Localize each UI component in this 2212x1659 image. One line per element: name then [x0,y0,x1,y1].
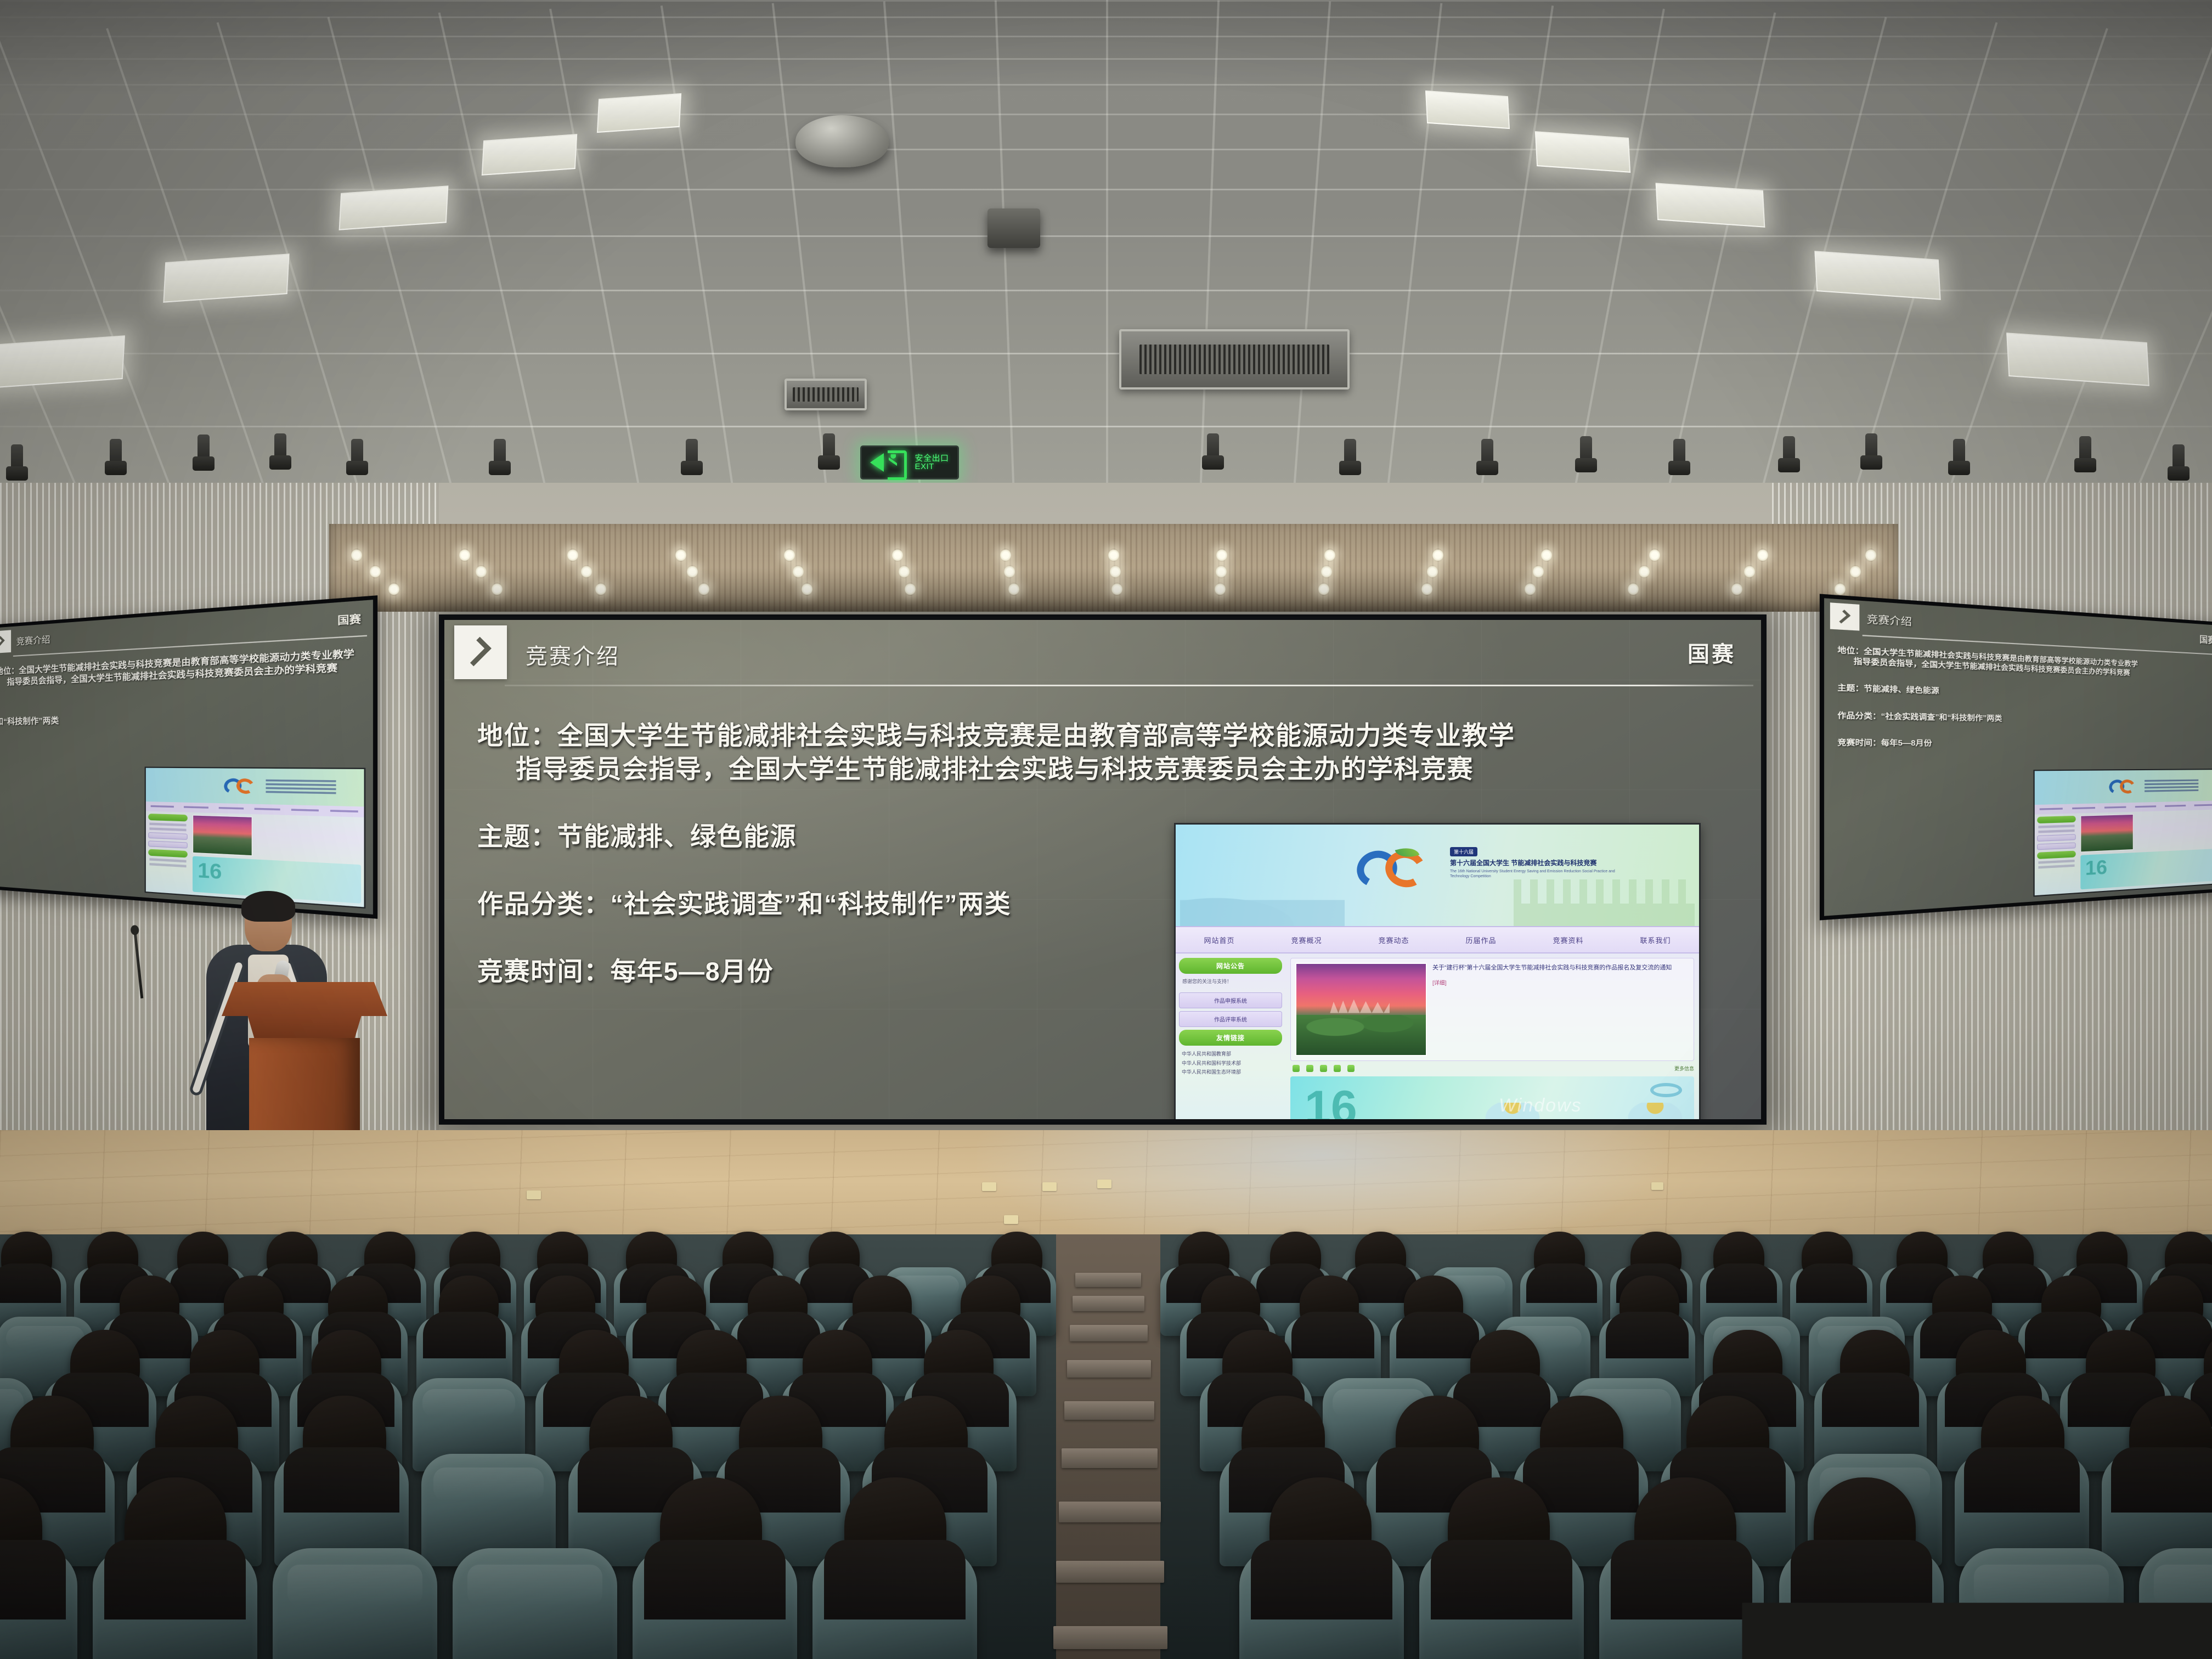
stage-downlight-icon [1008,583,1019,596]
floor-marker-2 [1042,1182,1057,1191]
banner-edition-number: 16 [1305,1084,1357,1119]
news-photo [1295,963,1427,1056]
running-person-icon [888,449,911,476]
stage-spot-light-icon [2079,436,2091,468]
stage-spot-light-icon [686,439,698,471]
chevron-right-icon-right-monitor [1830,602,1860,630]
stage-downlight-icon [1850,565,1861,578]
ceiling-light-panel [1535,131,1630,173]
left-monitor-badge: 国赛 [337,610,361,628]
infinity-mark-icon [1650,1083,1682,1097]
stage-downlight-icon [1216,549,1227,562]
windows-watermark: Windows [1499,1095,1582,1116]
audience-member-shoulders [104,1540,246,1620]
audience-member-shoulders [1791,1540,1932,1620]
audience-member-shoulders [1822,1373,1918,1427]
speaker-hair [241,891,295,922]
floor-marker-1 [982,1182,996,1191]
stage-downlight-icon [1216,565,1227,578]
stage-spot-light-icon [198,435,210,466]
site-main-area: 网站公告 感谢您的关注与支持！ 作品申报系统 作品评审系统 友情链接 中华人民共… [1176,953,1699,1119]
chevron-right-icon-left-monitor [0,630,11,653]
sidebar-announce-note: 感谢您的关注与支持！ [1179,978,1282,990]
site-title-block: 第十六届 第十六届全国大学生 节能减排社会实践与科技竞赛 The 16th Na… [1450,847,1631,879]
ceiling: 安全出口 EXIT [0,0,2212,527]
stage-downlight-icon [784,549,795,562]
news-card[interactable]: 关于“建行杯”第十六届全国大学生节能减排社会实践与科技竞赛的作品报名及复交流的通… [1290,958,1694,1061]
competition-logo-icon-right [2109,777,2140,797]
stage-downlight-icon [1835,583,1846,596]
skyline-left-icon [1180,879,1345,926]
stage-spot-light-icon [494,439,506,471]
floor-marker-6 [527,1190,541,1199]
news-pagination-dots[interactable]: 更多信息 [1290,1065,1694,1072]
ceiling-light-panel [1656,183,1765,227]
audience-member-shoulders [1964,1447,2080,1513]
ceiling-light-panel [482,134,577,176]
audience-member-shoulders [1431,1540,1572,1620]
stage-spot-light-icon [274,433,286,465]
audience-member-shoulders [0,1263,61,1304]
audience-member-shoulders [1611,1540,1752,1620]
audience-member-shoulders [284,1447,399,1513]
exit-sign-label-cn: 安全出口 [915,454,949,462]
auditorium-seat [273,1548,437,1659]
stage-spot-light-icon [1783,436,1795,468]
hvac-vent-icon [1119,329,1350,390]
floor-marker-5 [1651,1182,1663,1190]
ceiling-light-panel [597,93,681,133]
skyline-right-icon [1514,879,1695,926]
right-monitor-kicker: 竞赛介绍 [1867,610,1912,628]
sidebar-links-header: 友情链接 [1179,1030,1282,1046]
audience-member-shoulders [1251,1540,1392,1620]
stage-downlight-icon [1533,565,1544,578]
slide-line-status-2: 指导委员会指导，全国大学生节能减排社会实践与科技竞赛委员会主办的学科竞赛 [477,752,1739,786]
stage-downlight-icon [1110,565,1121,578]
auditorium-seat [453,1548,617,1659]
stage-downlight-icon [1525,583,1536,596]
stage-downlight-icon [1639,565,1650,578]
auditorium-seat [2139,1548,2212,1659]
stage-downlight-icon [802,583,812,596]
stage-downlight-icon [899,565,910,578]
audience-member-shoulders [1291,1312,1374,1358]
audience-member-shoulders [0,1540,66,1620]
stage-downlight-icon [595,583,606,596]
site-sidebar: 网站公告 感谢您的关注与支持！ 作品申报系统 作品评审系统 友情链接 中华人民共… [1176,953,1285,1119]
site-nav-item-home[interactable]: 网站首页 [1176,935,1263,945]
ceiling-light-panel [1425,91,1510,129]
stage-downlight-icon [1865,549,1876,562]
audience-member-shoulders [644,1540,786,1620]
right-monitor-badge: 国赛 [2199,632,2212,646]
stage-downlight-icon [1541,549,1552,562]
competition-logo-icon-left [224,776,259,797]
podium-top [222,982,387,1016]
news-detail-link[interactable]: [详细] [1432,978,1689,986]
stage-spot-light-icon [1481,439,1493,471]
left-monitor-website-thumb: 16 [145,766,366,909]
presentation-slide: 竞赛介绍 国赛 地位：全国大学生节能减排社会实践与科技竞赛是由教育部高等学校能源… [444,620,1761,1119]
exit-sign-label-en: EXIT [915,462,949,471]
stage-spot-light-icon [11,444,23,476]
site-hero-banner: 第十六届 第十六届全国大学生 节能减排社会实践与科技竞赛 The 16th Na… [1176,825,1699,926]
side-monitor-left: 竞赛介绍 国赛 地位：全国大学生节能减排社会实践与科技竞赛是由教育部高等学校能源… [0,595,377,919]
news-title[interactable]: 关于“建行杯”第十六届全国大学生节能减排社会实践与科技竞赛的作品报名及复交流的通… [1432,963,1689,973]
audience-seating-area [0,1234,2212,1659]
stage-downlight-icon [1731,583,1742,596]
sidebar-button-review[interactable]: 作品评审系统 [1179,1011,1282,1027]
auditorium-seat [1959,1548,2124,1659]
stage-spot-light-icon [1865,433,1877,465]
stage-downlight-icon [370,565,381,578]
projector-mount-icon [988,208,1040,248]
stage-downlight-icon [1427,565,1438,578]
stage-spot-light-icon [1344,439,1356,471]
stage-downlight-icon [476,565,487,578]
stage-downlight-icon [1757,549,1768,562]
stage-downlight-icon [1111,583,1122,596]
stage-downlight-icon [793,565,804,578]
aisle-step [1059,1502,1161,1522]
stage-downlight-icon [1108,549,1119,562]
stage-spot-light-icon [2172,444,2185,476]
podium-neck [239,1014,370,1040]
stage-downlight-icon [1421,583,1432,596]
stage-spot-light-icon [1207,433,1219,465]
ceiling-dome-speaker-icon [795,115,889,167]
stage-spot-light-icon [110,439,122,471]
audience-member-shoulders [1706,1263,1777,1304]
slide-header-rule [505,685,1753,686]
aisle-step [1053,1626,1167,1649]
aisle-step [1075,1273,1141,1287]
competition-infinity-logo-icon [1357,843,1439,894]
emergency-exit-sign: 安全出口 EXIT [860,445,959,479]
stage-spot-light-icon [823,433,835,465]
stage-downlight-icon [687,565,698,578]
main-led-screen: 竞赛介绍 国赛 地位：全国大学生节能减排社会实践与科技竞赛是由教育部高等学校能源… [439,614,1767,1125]
auditorium-scene: 安全出口 EXIT 竞赛介绍 国赛 地位：全国大学生节能减排社会实践与科技竞赛是… [0,0,2212,1659]
site-nav-item-works[interactable]: 历届作品 [1437,935,1525,945]
stage-spot-light-icon [1953,439,1965,471]
site-edition-banner: 16 Windows [1290,1076,1694,1119]
site-content-area: 关于“建行杯”第十六届全国大学生节能减排社会实践与科技竞赛的作品报名及复交流的通… [1285,953,1699,1119]
site-nav-item-news[interactable]: 竞赛动态 [1350,935,1437,945]
aisle-step [1070,1325,1148,1341]
aisle-step [1067,1360,1151,1378]
sidebar-button-submit[interactable]: 作品申报系统 [1179,992,1282,1008]
sidebar-link-most[interactable]: 中华人民共和国科学技术部 [1179,1059,1282,1068]
stage-spot-light-icon [351,439,363,471]
hvac-vent-small-icon [785,379,867,410]
stage-spot-light-icon [1673,439,1685,471]
embedded-website-screenshot: 第十六届 第十六届全国大学生 节能减排社会实践与科技竞赛 The 16th Na… [1174,823,1701,1119]
right-thumb-banner-number: 16 [2085,857,2107,879]
audience-member-shoulders [1526,1263,1597,1304]
chevron-right-icon [454,625,507,679]
audience-member-shoulders [824,1540,966,1620]
news-more-link[interactable]: 更多信息 [1674,1065,1694,1072]
ceiling-light-panel [339,185,449,230]
stage-downlight-icon [459,549,470,562]
sidebar-announce-header: 网站公告 [1179,958,1282,974]
audience-member-shoulders [1606,1312,1689,1358]
aisle-step [1064,1401,1154,1420]
slide-corner-badge: 国赛 [1688,636,1736,668]
stage-downlight-icon [1649,549,1660,562]
right-monitor-website-thumb: 16 [2033,769,2212,896]
slide-line-status-1: 地位：全国大学生节能减排社会实践与科技竞赛是由教育部高等学校能源动力类专业教学 [477,719,1739,752]
site-title-en: The 16th National University Student Ene… [1450,869,1631,879]
audience-member-shoulders [1796,1263,1867,1304]
side-monitor-right: 竞赛介绍 国赛 地位：全国大学生节能减排社会实践与科技竞赛是由教育部高等学校能源… [1820,594,2212,920]
stage-spot-light-icon [1580,436,1592,468]
arrow-left-icon [870,453,884,472]
aisle-step [1056,1561,1164,1583]
aisle-step [1073,1296,1144,1311]
slide-kicker-label: 竞赛介绍 [526,639,620,670]
audience-member-shoulders [2111,1447,2212,1513]
slide-header: 竞赛介绍 国赛 [444,620,1761,686]
stage-downlight-icon [351,549,362,562]
site-nav-item-docs[interactable]: 竞赛资料 [1525,935,1612,945]
aisle-step [1062,1448,1158,1468]
site-edition-tag: 第十六届 [1450,847,1477,856]
sidebar-link-mee[interactable]: 中华人民共和国生态环境部 [1179,1068,1282,1076]
site-title-cn: 第十六届全国大学生 节能减排社会实践与科技竞赛 [1450,859,1631,867]
floor-marker-4 [1004,1215,1018,1224]
left-thumb-banner-number: 16 [198,860,222,883]
stage-downlight-icon [1318,583,1329,596]
audience-member-shoulders [1396,1312,1479,1358]
site-nav-bar[interactable]: 网站首页 竞赛概况 竞赛动态 历届作品 竞赛资料 联系我们 [1176,926,1699,953]
sidebar-link-moe[interactable]: 中华人民共和国教育部 [1179,1049,1282,1058]
pavilion-icon-2 [1614,1103,1694,1119]
stage-downlight-icon [698,583,709,596]
site-nav-item-contact[interactable]: 联系我们 [1612,935,1699,945]
stage-downlight-icon [388,583,399,596]
site-nav-item-overview[interactable]: 竞赛概况 [1263,935,1350,945]
stage-downlight-icon [1000,549,1011,562]
left-monitor-kicker: 竞赛介绍 [16,632,50,648]
stage-downlight-icon [892,549,903,562]
audience-member-shoulders [423,1312,506,1358]
floor-marker-3 [1097,1180,1111,1188]
